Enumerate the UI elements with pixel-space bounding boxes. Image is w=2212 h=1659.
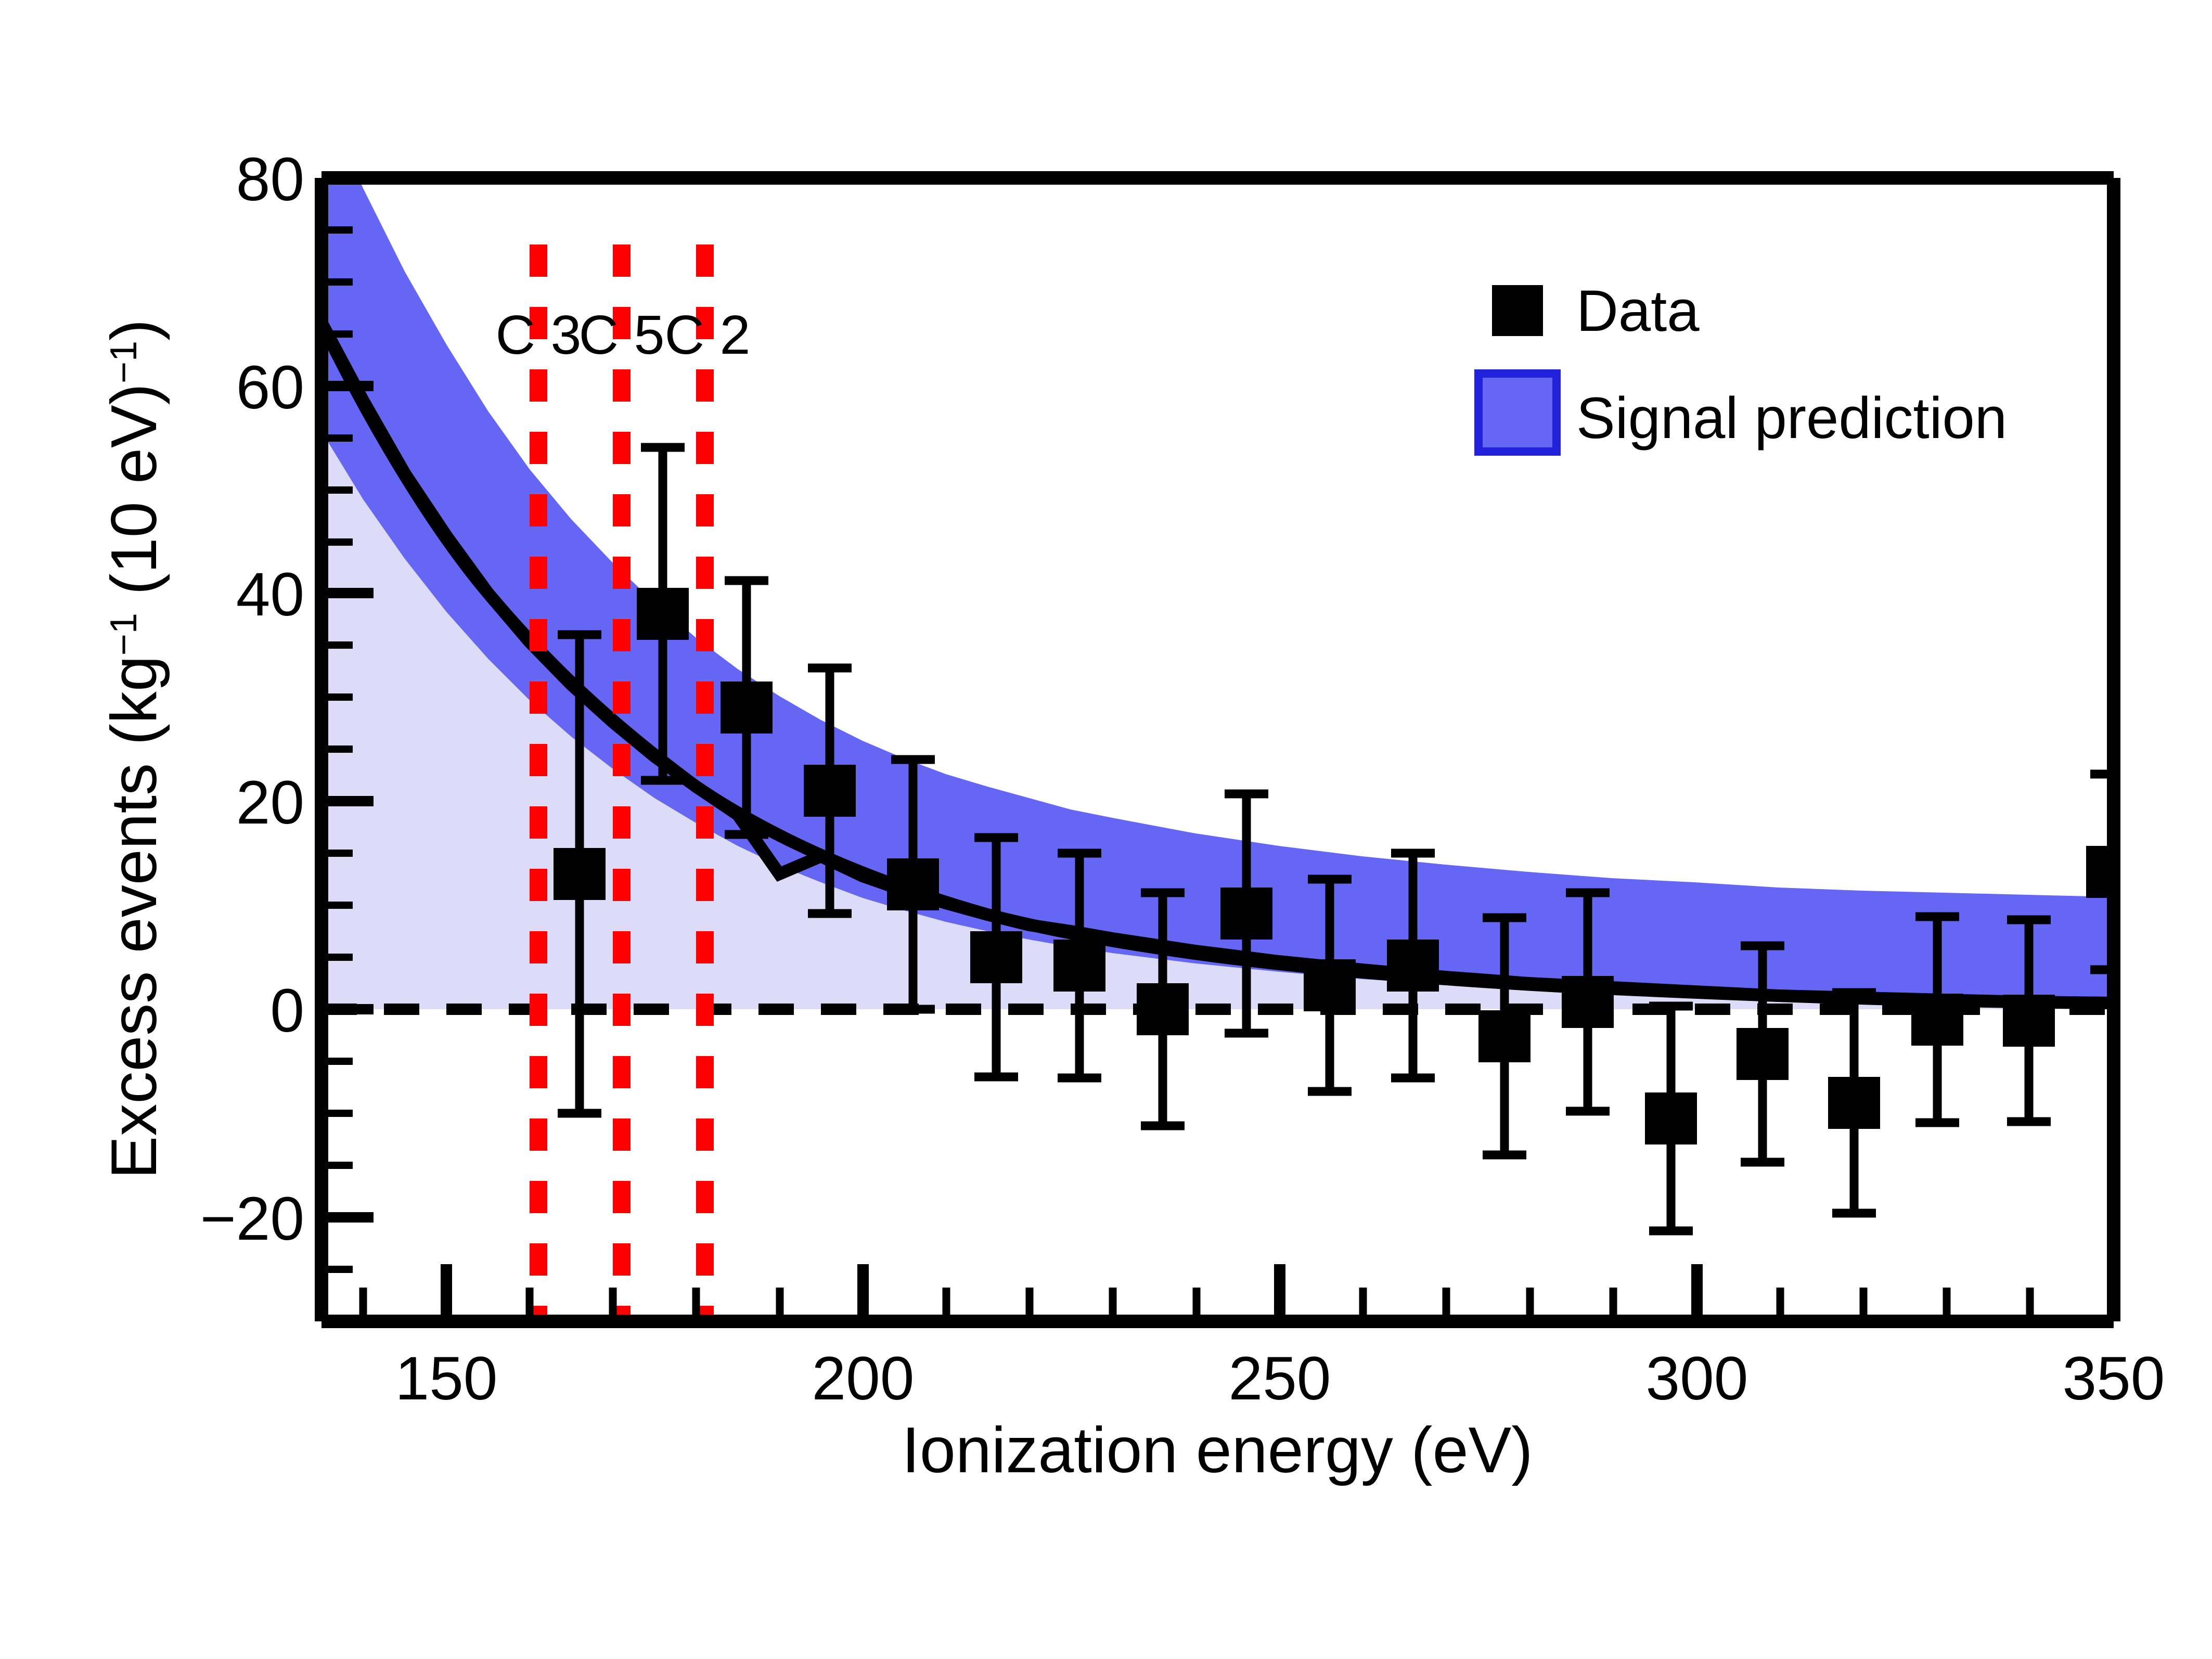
legend-marker-data [1492, 285, 1543, 336]
y-axis-title-unit-mid: (10 eV) [98, 383, 170, 613]
annotation-labels: C 3 C 5 C 2 [496, 304, 751, 366]
excess-events-vs-ionization-energy-chart: 80 60 40 20 0 −20 150 200 250 300 350 Io… [0, 0, 2212, 1659]
data-point [721, 681, 773, 734]
x-tick-label: 350 [2063, 1344, 2165, 1413]
data-point [804, 765, 856, 817]
y-axis-title-main: Excess events [98, 763, 170, 1179]
data-point [1053, 940, 1105, 992]
data-point [1304, 959, 1356, 1011]
y-axis-title-group: Excess events (kg−1 (10 eV)−1) [98, 319, 170, 1179]
data-point [1911, 994, 1963, 1046]
y-tick-label: −20 [200, 1185, 304, 1253]
data-point [1828, 1077, 1880, 1129]
x-tick-label: 250 [1229, 1344, 1331, 1413]
data-point [1387, 940, 1439, 992]
data-point [2003, 995, 2055, 1047]
figure-root: 80 60 40 20 0 −20 150 200 250 300 350 Io… [0, 0, 2212, 1659]
legend-swatch-signal-prediction [1478, 374, 1557, 452]
annotation-label-c3: C 3 [496, 304, 582, 366]
data-point [970, 931, 1022, 983]
y-tick-label: 80 [236, 145, 304, 214]
x-tick-label: 200 [812, 1344, 915, 1413]
y-axis-title-sup2: −1 [103, 341, 145, 383]
data-point [554, 848, 606, 900]
data-point [1645, 1092, 1697, 1144]
data-point [1137, 983, 1189, 1035]
svg-text:Excess events (kg−1 (10 eV)−1: Excess events (kg−1 (10 eV)−1) [98, 319, 170, 1179]
legend-label-data: Data [1576, 278, 1700, 343]
annotation-label-c2: C 2 [665, 304, 751, 366]
y-tick-label: 60 [236, 353, 304, 422]
y-tick-label: 0 [270, 976, 304, 1045]
x-tick-label: 300 [1646, 1344, 1748, 1413]
y-axis-title-sup1: −1 [103, 613, 145, 655]
legend-label-signal-prediction: Signal prediction [1576, 385, 2007, 451]
annotation-label-c5: C 5 [579, 304, 665, 366]
data-point [1562, 976, 1614, 1028]
data-point [637, 588, 689, 640]
data-point [1220, 888, 1272, 940]
x-axis-title: Ionization energy (eV) [902, 1414, 1533, 1486]
x-tick-label: 150 [395, 1344, 498, 1413]
y-axis-title-unit-open: (kg [98, 655, 170, 763]
y-tick-label: 40 [236, 560, 304, 629]
data-point [1737, 1028, 1789, 1080]
data-point [887, 858, 939, 910]
y-tick-label: 20 [236, 768, 304, 837]
data-point [1478, 1010, 1531, 1062]
